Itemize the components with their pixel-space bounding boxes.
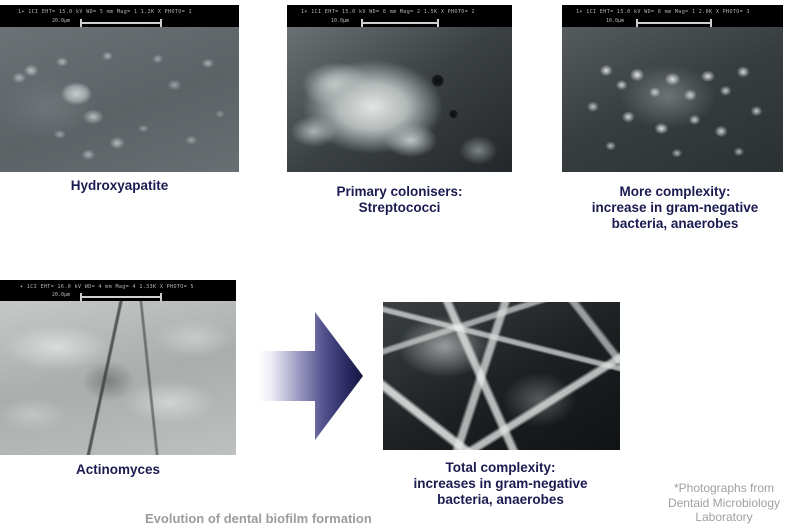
sem-scale-label: 10.0µm <box>331 19 349 24</box>
photo-credit: *Photographs from Dentaid Microbiology L… <box>655 481 793 525</box>
micrograph-total-complexity <box>383 302 620 450</box>
caption-line: bacteria, anaerobes <box>560 216 790 232</box>
photo-credit-line: Laboratory <box>655 510 793 525</box>
sem-header-bar: 1+ 1CI EHT= 15.0 kV WD= 6 mm Mag= 1 2.0K… <box>562 5 783 27</box>
sem-scale-bar <box>636 22 712 24</box>
caption-line: Hydroxyapatite <box>0 178 239 194</box>
caption-hydroxyapatite: Hydroxyapatite <box>0 178 239 194</box>
sem-header-info: 1+ 1CI EHT= 15.0 kV WD= 5 mm Mag= 1 1.2K… <box>18 10 192 15</box>
micrograph-hydroxyapatite: 1+ 1CI EHT= 15.0 kV WD= 5 mm Mag= 1 1.2K… <box>0 5 239 172</box>
sem-header-bar: 1+ 1CI EHT= 15.0 kV WD= 5 mm Mag= 1 1.2K… <box>0 5 239 27</box>
micrograph-image-actinomyces <box>0 301 236 455</box>
sem-scale-bar <box>361 22 439 24</box>
micrograph-primary-colonisers: 1+ 1CI EHT= 15.0 kV WD= 6 mm Mag= 2 1.5K… <box>287 5 512 172</box>
caption-more-complexity: More complexity: increase in gram-negati… <box>560 184 790 232</box>
micrograph-image-hydroxyapatite <box>0 27 239 172</box>
sem-scale-label: 10.0µm <box>606 19 624 24</box>
caption-line: Primary colonisers: <box>277 184 522 200</box>
micrograph-image-primary-colonisers <box>287 27 512 172</box>
caption-actinomyces: Actinomyces <box>0 462 236 478</box>
sem-header-info: 1+ 1CI EHT= 15.0 kV WD= 6 mm Mag= 2 1.5K… <box>301 10 475 15</box>
sem-header-bar: 1+ 1CI EHT= 15.0 kV WD= 6 mm Mag= 2 1.5K… <box>287 5 512 27</box>
arrow-right-icon <box>258 310 364 442</box>
slide-canvas: 1+ 1CI EHT= 15.0 kV WD= 5 mm Mag= 1 1.2K… <box>0 0 795 530</box>
photo-credit-line: *Photographs from <box>655 481 793 496</box>
caption-line: Total complexity: <box>378 460 623 476</box>
sem-scale-label: 20.0µm <box>52 19 70 24</box>
photo-credit-line: Dentaid Microbiology <box>655 496 793 511</box>
progression-arrow <box>258 310 364 442</box>
caption-primary-colonisers: Primary colonisers: Streptococci <box>277 184 522 216</box>
micrograph-image-total-complexity <box>383 302 620 450</box>
caption-line: Streptococci <box>277 200 522 216</box>
sem-scale-bar <box>80 22 162 24</box>
sem-scale-label: 20.0µm <box>52 293 70 298</box>
sem-header-info: + 1CI EHT= 16.0 kV WD= 4 mm Mag= 4 1.33K… <box>20 285 194 290</box>
caption-line: More complexity: <box>560 184 790 200</box>
sem-header-bar: + 1CI EHT= 16.0 kV WD= 4 mm Mag= 4 1.33K… <box>0 280 236 301</box>
slide-footer-title: Evolution of dental biofilm formation <box>145 511 372 526</box>
micrograph-actinomyces: + 1CI EHT= 16.0 kV WD= 4 mm Mag= 4 1.33K… <box>0 280 236 455</box>
caption-line: bacteria, anaerobes <box>378 492 623 508</box>
sem-scale-bar <box>80 296 162 298</box>
micrograph-image-more-complexity <box>562 27 783 172</box>
sem-header-info: 1+ 1CI EHT= 15.0 kV WD= 6 mm Mag= 1 2.0K… <box>576 10 750 15</box>
caption-line: increase in gram-negative <box>560 200 790 216</box>
caption-line: increases in gram-negative <box>378 476 623 492</box>
caption-total-complexity: Total complexity: increases in gram-nega… <box>378 460 623 508</box>
caption-line: Actinomyces <box>0 462 236 478</box>
micrograph-more-complexity: 1+ 1CI EHT= 15.0 kV WD= 6 mm Mag= 1 2.0K… <box>562 5 783 172</box>
